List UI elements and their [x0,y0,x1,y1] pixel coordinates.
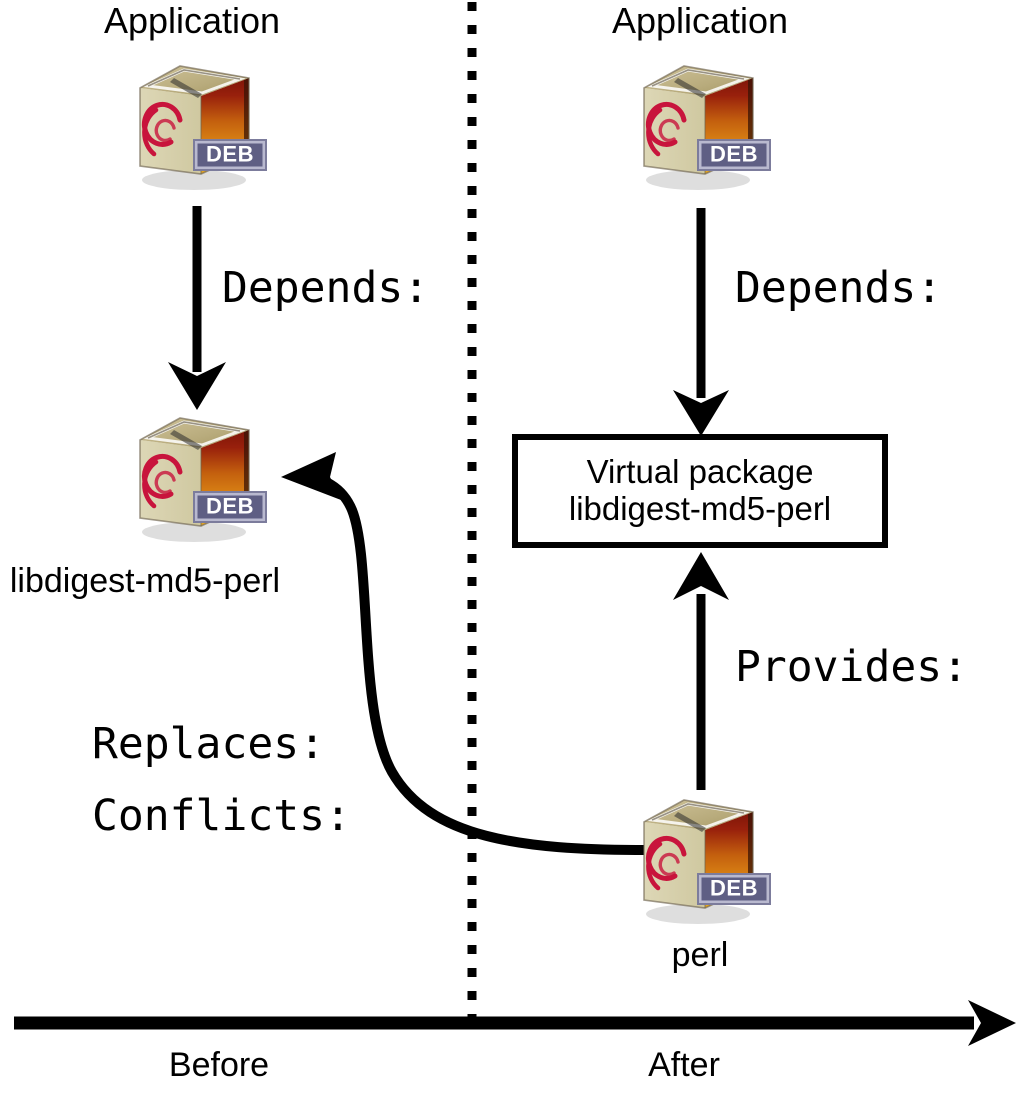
before-application-package-icon [140,66,266,190]
after-perl-label: perl [672,938,729,974]
after-application-title: Application [612,2,788,40]
before-depends-arrow [168,206,226,410]
provides-arrow [673,552,729,790]
after-depends-arrow [673,208,729,436]
diagram-canvas: DEB [0,0,1024,1094]
after-depends-label: Depends: [735,266,942,311]
virtual-package-line1: Virtual package [587,454,814,491]
after-application-package-icon [644,66,770,190]
conflicts-label: Conflicts: [92,794,351,839]
before-libdigest-label: libdigest-md5-perl [10,564,280,600]
before-depends-label: Depends: [222,266,429,311]
before-application-title: Application [104,2,280,40]
time-axis-arrow [14,1000,1016,1046]
provides-label: Provides: [735,645,968,690]
before-libdigest-package-icon [140,418,266,542]
timeline-after-label: After [648,1048,720,1084]
virtual-package-line2: libdigest-md5-perl [569,491,831,528]
virtual-package-box: Virtual package libdigest-md5-perl [512,434,888,548]
timeline-before-label: Before [169,1048,269,1084]
replaces-label: Replaces: [92,722,325,767]
after-perl-package-icon [644,800,770,924]
